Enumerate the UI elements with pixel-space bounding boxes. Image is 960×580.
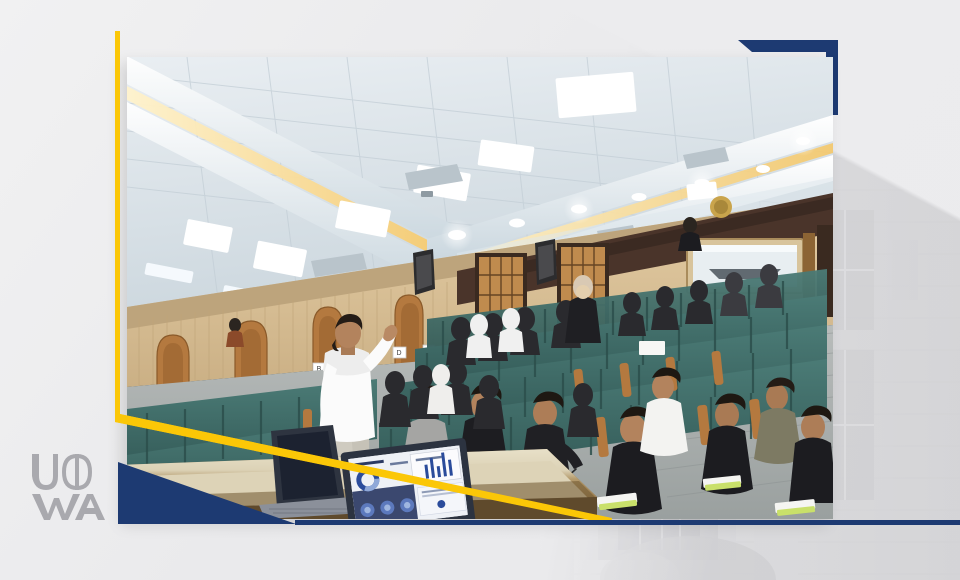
svg-text:D: D (396, 350, 401, 357)
logo-letter-o: O (0, 0, 1, 1)
lecture-hall-photo: BC DE (127, 57, 833, 519)
navy-horizontal-rule (295, 520, 960, 525)
banner-canvas: BC DE (0, 0, 960, 580)
uowa-logo-text: UOWA (30, 452, 80, 456)
logo-letter-u: U (0, 0, 1, 1)
uowa-logo[interactable]: UOWA (30, 452, 106, 520)
logo-letter-a: A (0, 0, 1, 1)
logo-letter-w: W (0, 0, 1, 1)
